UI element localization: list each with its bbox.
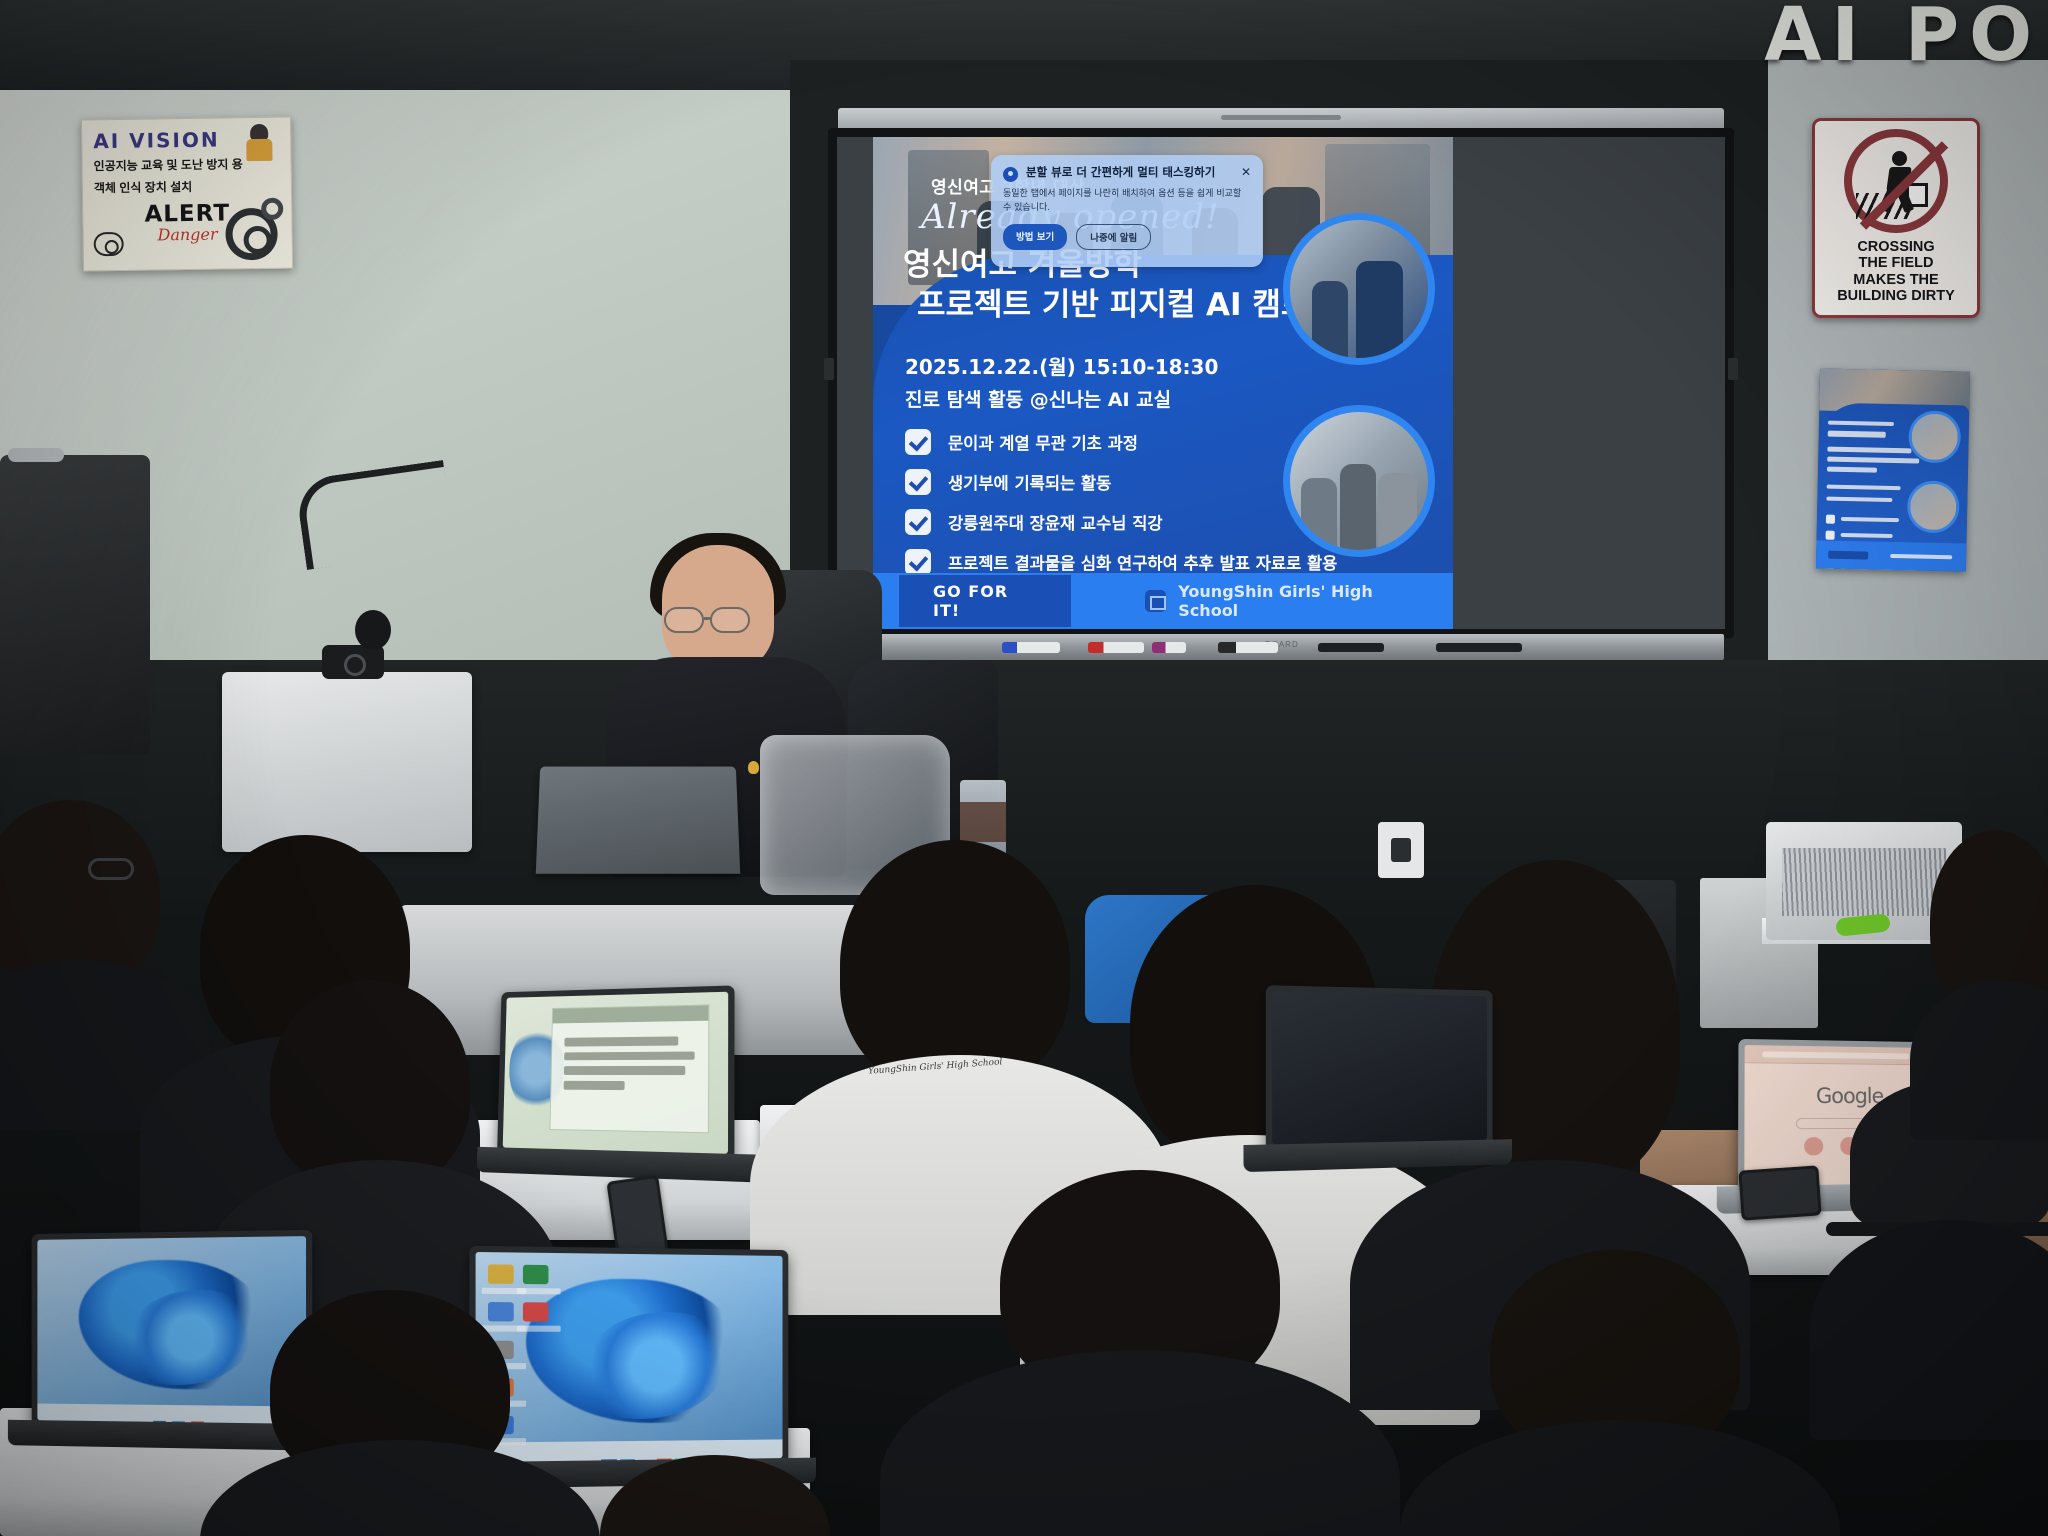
marker-purple[interactable] [1152,642,1186,653]
go-for-it-button[interactable]: GO FOR IT! [899,575,1071,627]
display-top-bar [838,108,1724,130]
crossing-line3: MAKES THE [1821,272,1971,288]
check-icon [905,429,931,455]
toast-body: 동일한 탭에서 페이지를 나란히 배치하여 옵션 등을 쉽게 비교할 수 있습니… [1003,188,1251,215]
marker-blue[interactable] [1002,642,1060,653]
school-name: YoungShin Girls' High School [1178,582,1427,620]
display-bezel: 영신여고 2학년 대상 Already opened! 영신여고 겨울방학 프로… [828,128,1734,638]
desktop-monitor [222,672,472,852]
checklist-label: 프로젝트 결과물을 심화 연구하여 추후 발표 자료로 활용 [948,550,1337,574]
ai-vision-sign: AI VISION 인공지능 교육 및 도난 방지 용 객체 인식 장치 설치 … [81,117,293,272]
student [560,1455,860,1536]
student-laptop-dark[interactable] [1266,985,1493,1151]
checklist-label: 문이과 계열 무관 기초 과정 [948,430,1138,454]
toast-primary-button[interactable]: 방법 보기 [1003,224,1067,250]
smartphone[interactable] [1738,1165,1821,1220]
display-screen[interactable]: 영신여고 2학년 대상 Already opened! 영신여고 겨울방학 프로… [837,137,1725,629]
crossing-line2: THE FIELD [1821,255,1971,271]
checklist-label: 생기부에 기록되는 활동 [948,470,1111,494]
poster-headline-line2: 프로젝트 기반 피지컬 AI 캠프 [903,285,1309,325]
student-laptop-green-doc[interactable] [497,985,734,1160]
student [1930,830,2048,1090]
student [0,800,200,1100]
lapel-pin [748,761,759,774]
laptop-screen-dim [1272,992,1487,1145]
location-pin-icon [1003,167,1018,182]
student [230,1290,570,1536]
marker-black[interactable] [1218,642,1278,653]
stylus-2[interactable] [1436,643,1522,652]
display-right-button[interactable] [1728,358,1738,380]
glasses-right-lens [710,607,750,633]
eye-icon [94,232,124,256]
check-icon [905,549,931,575]
ai-vision-line2: 객체 인식 장치 설치 [94,178,280,198]
microphone-head [355,610,391,650]
wall-lettering: AI PO [1764,0,2042,78]
interactive-display[interactable]: 영신여고 2학년 대상 Already opened! 영신여고 겨울방학 프로… [828,108,1734,678]
person-icon [242,124,277,162]
poster-date: 2025.12.22.(월) 15:10-18:30 [905,351,1218,380]
usb-webcam [322,645,384,679]
marker-red[interactable] [1088,642,1144,653]
toast-title: 분할 뷰로 더 간편하게 멀티 태스킹하기 [1026,165,1215,181]
eyeglasses [88,858,134,880]
coat-rack [0,455,150,755]
check-icon [905,469,931,495]
split-view-toast[interactable]: 분할 뷰로 더 간편하게 멀티 태스킹하기 ✕ 동일한 탭에서 페이지를 나란히… [991,155,1263,267]
classroom-scene: AI PO AI VISION 인공지능 교육 및 도난 방지 용 객체 인식 … [0,0,2048,1536]
marker-tray[interactable]: BOARD [840,634,1724,660]
check-icon [905,509,931,535]
crossing-line4: BUILDING DIRTY [1821,288,1971,304]
close-icon[interactable]: ✕ [1241,165,1251,179]
checklist-item: 프로젝트 결과물을 심화 연구하여 추후 발표 자료로 활용 [905,549,1375,575]
poster-footer: GO FOR IT! YoungShin Girls' High School [873,573,1453,629]
student [880,1170,1380,1536]
poster-photo-circle-top [1283,213,1435,365]
camp-poster: 영신여고 2학년 대상 Already opened! 영신여고 겨울방학 프로… [873,137,1453,629]
coat-hook [8,448,64,462]
shortcut-icon[interactable] [1804,1137,1823,1155]
student [1400,1250,1820,1536]
stylus-1[interactable] [1318,643,1384,652]
laptop-screen-korean-document [503,992,728,1154]
teacher-laptop[interactable] [536,767,740,874]
crossing-sign: CROSSING THE FIELD MAKES THE BUILDING DI… [1812,118,1980,318]
toast-secondary-button[interactable]: 나중에 알림 [1076,224,1151,250]
crossing-line1: CROSSING [1821,239,1971,255]
poster-place: 진로 탐색 활동 @신나는 AI 교실 [905,385,1171,412]
school-logo-icon [1145,590,1166,612]
poster-photo-circle-bottom [1283,405,1435,557]
display-left-button[interactable] [824,358,834,380]
glasses-left-lens [664,607,704,633]
printed-camp-flyer [1816,368,1970,571]
no-pedestrian-icon [1844,129,1948,233]
checklist-label: 강릉원주대 장윤재 교수님 직강 [948,510,1163,534]
